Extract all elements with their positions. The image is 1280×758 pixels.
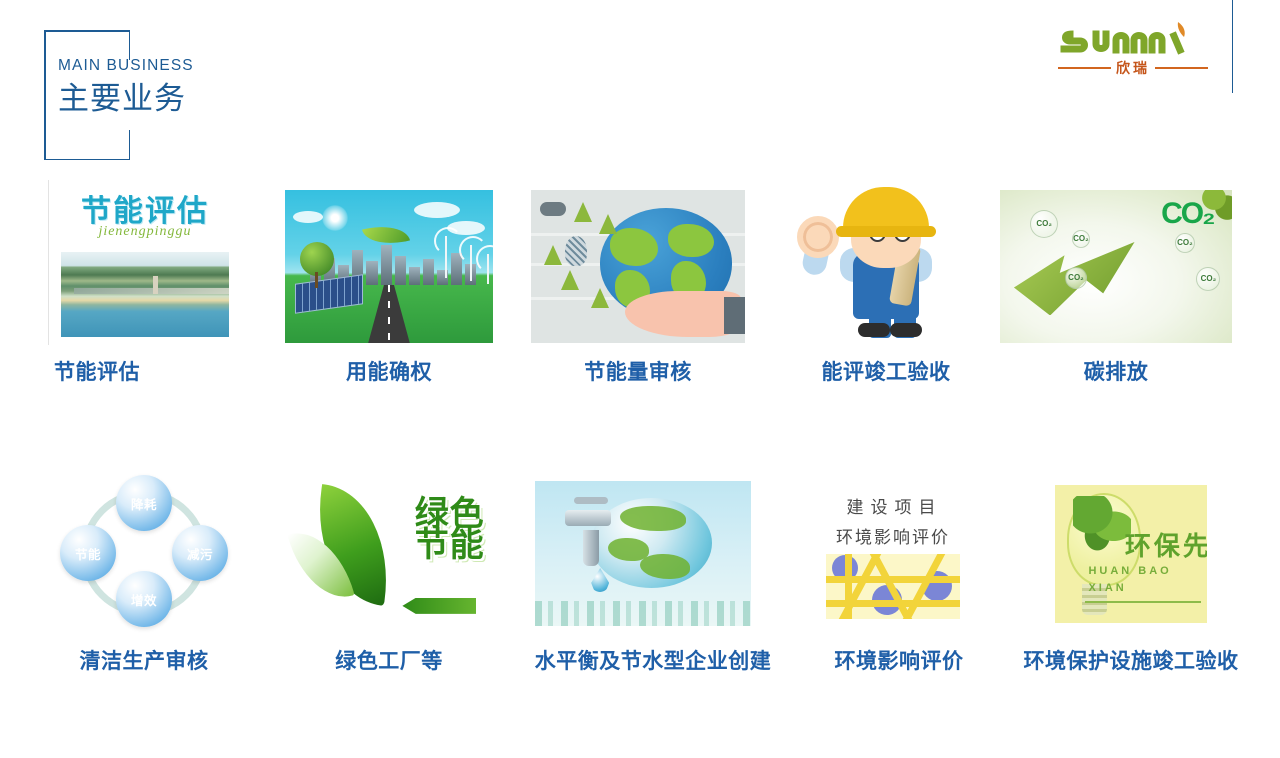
frame-right-bottom-border bbox=[129, 130, 131, 160]
card-label: 清洁生产审核 bbox=[48, 651, 240, 672]
card-label: 节能评估 bbox=[48, 362, 246, 383]
card-thumbnail: 环保先 HUAN BAO XIAN bbox=[1055, 485, 1207, 623]
cycle-node-right: 减污 bbox=[172, 525, 228, 581]
business-card-completion-acceptance[interactable]: 能评竣工验收 bbox=[780, 180, 992, 343]
tree-icon bbox=[591, 288, 609, 308]
logo-rule-right bbox=[1155, 67, 1208, 69]
card-label: 用能确权 bbox=[285, 362, 493, 383]
poster-pinyin-line2: XIAN bbox=[1088, 582, 1126, 594]
poster-title-pinyin: jienengpinggu bbox=[49, 224, 240, 240]
water-faucet-globe-image bbox=[535, 481, 751, 626]
card-thumbnail: 建设项目 环境影响评价 bbox=[819, 483, 967, 625]
frame-top-border bbox=[44, 30, 130, 32]
chimney-icon bbox=[540, 202, 566, 216]
green-leaf-logo-image: 绿色 节能 bbox=[285, 473, 493, 633]
business-card-water-balance[interactable]: 水平衡及节水型企业创建 bbox=[513, 473, 793, 626]
construction-worker-cartoon-image bbox=[780, 180, 992, 343]
carbon-arrow-co2-image: CO₂ CO₂ CO₂ CO₂ CO₂ CO₂ bbox=[1000, 190, 1232, 343]
leaf-logo-text: 绿色 节能 bbox=[415, 499, 485, 562]
ok-hand-gesture-icon bbox=[797, 216, 839, 258]
tree-icon bbox=[300, 242, 334, 276]
logo-wordmark-icon bbox=[1058, 20, 1208, 60]
cycle-node-bottom: 增效 bbox=[116, 571, 172, 627]
faucet-spout-icon bbox=[583, 530, 599, 566]
leaf-logo-text-line2: 节能 bbox=[415, 530, 485, 561]
environmental-protection-bulb-poster: 环保先 HUAN BAO XIAN bbox=[1055, 485, 1207, 623]
co2-bubble: CO₂ bbox=[1196, 267, 1220, 291]
city-silhouette bbox=[535, 601, 751, 626]
card-thumbnail: 绿色 节能 bbox=[285, 473, 493, 633]
card-thumbnail bbox=[531, 190, 745, 343]
faucet-icon bbox=[565, 510, 611, 526]
book-title-line1: 建设项目 bbox=[831, 493, 958, 518]
logo-chinese-name: 欣瑞 bbox=[1116, 61, 1150, 75]
hard-hat-icon bbox=[843, 187, 929, 233]
shoe-shape bbox=[890, 323, 922, 337]
box-shape bbox=[724, 297, 745, 334]
frame-left-border bbox=[44, 30, 46, 160]
book-cover-graphic bbox=[826, 554, 959, 619]
cycle-node-left: 节能 bbox=[60, 525, 116, 581]
slide-header: MAIN BUSINESS 主要业务 欣瑞 bbox=[0, 0, 1280, 180]
header-divider bbox=[1232, 0, 1233, 93]
wind-turbine-icon bbox=[487, 254, 489, 284]
co2-bubble: CO₂ bbox=[1065, 267, 1087, 289]
card-thumbnail bbox=[285, 190, 493, 343]
hand-holding-globe-image bbox=[531, 190, 745, 343]
poster-cityscape-photo bbox=[61, 252, 229, 337]
card-thumbnail bbox=[535, 481, 751, 626]
business-card-grid: 节能评估 jienengpinggu 节能评估 bbox=[0, 180, 1280, 758]
solar-panel-icon bbox=[295, 275, 363, 315]
wind-turbine-icon bbox=[470, 245, 472, 281]
card-label: 节能量审核 bbox=[531, 362, 745, 383]
business-card-carbon-emission[interactable]: CO₂ CO₂ CO₂ CO₂ CO₂ CO₂ 碳排放 bbox=[1000, 180, 1232, 343]
energy-assessment-poster-image: 节能评估 jienengpinggu bbox=[48, 180, 240, 345]
page-title: MAIN BUSINESS 主要业务 bbox=[58, 58, 478, 115]
cycle-node-top: 降耗 bbox=[116, 475, 172, 531]
eia-book-cover-image: 建设项目 环境影响评价 bbox=[819, 483, 967, 625]
card-label: 环境影响评价 bbox=[805, 651, 993, 672]
book-title-line2: 环境影响评价 bbox=[825, 523, 961, 548]
logo-chinese-row: 欣瑞 bbox=[1058, 61, 1208, 75]
landmass-shape bbox=[640, 554, 691, 579]
poster-pinyin-line1: HUAN BAO bbox=[1088, 565, 1171, 577]
cloud-shape bbox=[293, 211, 323, 223]
landmass-shape bbox=[668, 224, 713, 257]
co2-bubble: CO₂ bbox=[1072, 230, 1090, 248]
poster-title-cn: 环保先 bbox=[1125, 526, 1207, 563]
frame-bottom-border bbox=[44, 159, 130, 161]
card-thumbnail: 降耗 减污 增效 节能 bbox=[48, 473, 240, 633]
business-card-energy-assessment[interactable]: 节能评估 jienengpinggu 节能评估 bbox=[48, 180, 240, 345]
business-card-green-factory[interactable]: 绿色 节能 绿色工厂等 bbox=[285, 473, 493, 633]
company-logo: 欣瑞 bbox=[1058, 20, 1218, 86]
business-card-savings-audit[interactable]: 节能量审核 bbox=[531, 180, 745, 343]
foliage-shape bbox=[1073, 496, 1131, 551]
co2-bubble: CO₂ bbox=[1030, 210, 1058, 238]
card-thumbnail: CO₂ CO₂ CO₂ CO₂ CO₂ CO₂ bbox=[1000, 190, 1232, 343]
shoe-shape bbox=[858, 323, 890, 337]
cloud-shape bbox=[414, 202, 460, 218]
business-card-eia[interactable]: 建设项目 环境影响评价 环境影响评价 bbox=[805, 473, 993, 625]
card-label: 环境保护设施竣工验收 bbox=[1005, 651, 1257, 672]
card-thumbnail: 节能评估 jienengpinggu bbox=[48, 180, 240, 345]
poster-rule bbox=[1085, 601, 1201, 603]
cleaner-production-cycle-diagram: 降耗 减污 增效 节能 bbox=[48, 473, 240, 633]
page-title-english: MAIN BUSINESS bbox=[58, 58, 478, 74]
tree-icon bbox=[599, 214, 617, 234]
faucet-handle-icon bbox=[574, 497, 608, 504]
business-card-cleaner-production[interactable]: 降耗 减污 增效 节能 清洁生产审核 bbox=[48, 473, 240, 633]
card-label: 绿色工厂等 bbox=[285, 651, 493, 672]
card-row-1: 节能评估 jienengpinggu 节能评估 bbox=[0, 180, 1280, 465]
business-card-environmental-acceptance[interactable]: 环保先 HUAN BAO XIAN 环境保护设施竣工验收 bbox=[1005, 473, 1257, 623]
business-card-energy-rights[interactable]: 用能确权 bbox=[285, 180, 493, 343]
wind-turbine-icon bbox=[565, 236, 587, 266]
band-shape bbox=[845, 554, 852, 619]
tree-icon bbox=[544, 245, 562, 265]
card-label: 水平衡及节水型企业创建 bbox=[513, 651, 793, 672]
card-label: 碳排放 bbox=[1000, 362, 1232, 383]
sun-icon bbox=[322, 205, 348, 231]
arrow-icon bbox=[402, 598, 476, 614]
tree-icon bbox=[574, 202, 592, 222]
road-shape bbox=[368, 285, 410, 343]
frame-right-top-border bbox=[129, 30, 131, 60]
co2-bubble: CO₂ bbox=[1175, 233, 1195, 253]
landmass-shape bbox=[620, 506, 685, 531]
page-title-chinese: 主要业务 bbox=[58, 83, 478, 116]
tree-icon bbox=[561, 270, 579, 290]
card-label: 能评竣工验收 bbox=[780, 362, 992, 383]
card-row-2: 降耗 减污 增效 节能 清洁生产审核 绿色 节能 bbox=[0, 473, 1280, 758]
logo-rule-left bbox=[1058, 67, 1111, 69]
wind-turbine-icon bbox=[445, 236, 447, 278]
co2-text: CO₂ bbox=[1161, 199, 1213, 229]
eco-city-image bbox=[285, 190, 493, 343]
card-thumbnail bbox=[780, 180, 992, 343]
